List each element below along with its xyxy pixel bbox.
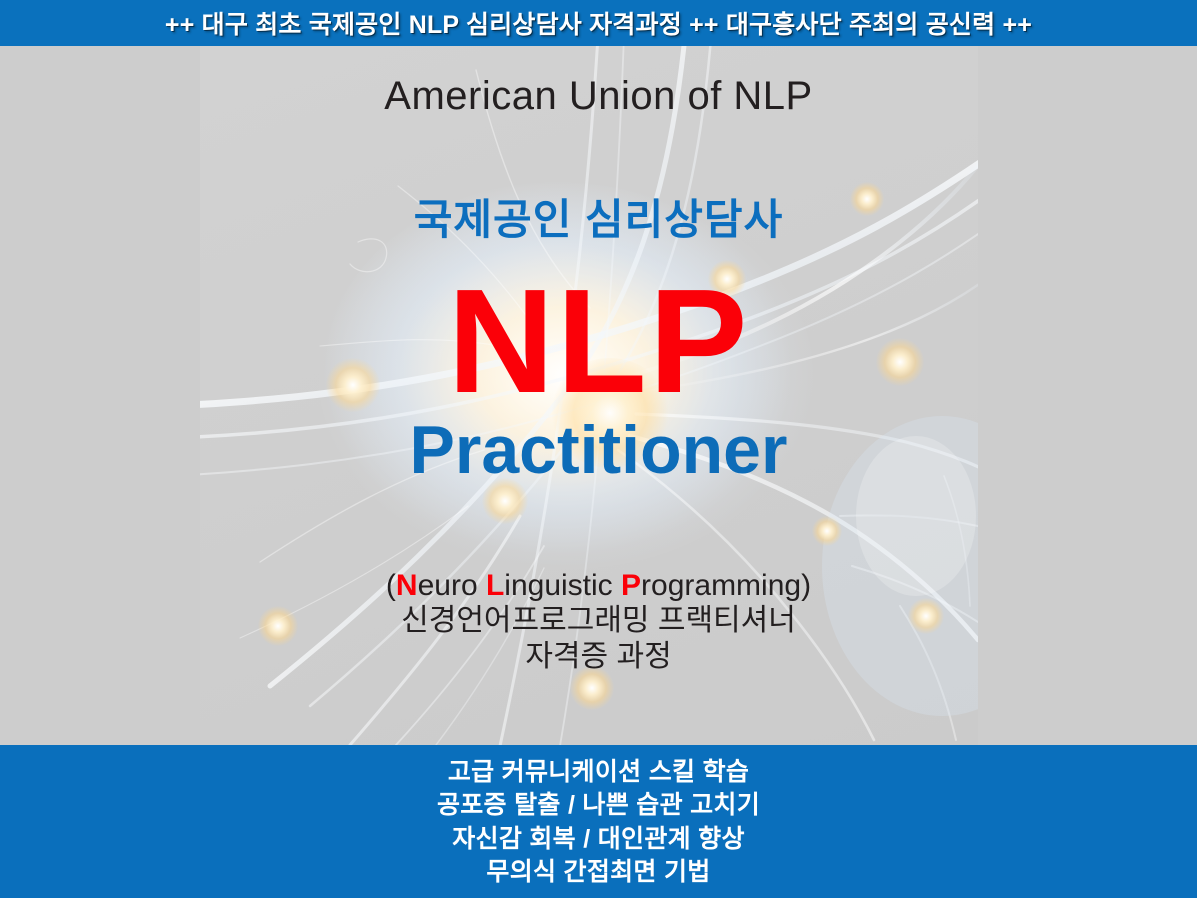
- benefits-panel: 고급 커뮤니케이션 스킬 학습 공포증 탈출 / 나쁜 습관 고치기 자신감 회…: [0, 745, 1197, 898]
- korean-subtitle-line-1: 신경언어프로그래밍 프랙티셔너: [0, 603, 1197, 639]
- benefit-line: 무의식 간접최면 기법: [486, 856, 710, 890]
- letter-l-highlight: L: [486, 569, 504, 602]
- korean-certification-title: 국제공인 심리상담사: [0, 186, 1197, 247]
- top-banner-text: ++ 대구 최초 국제공인 NLP 심리상담사 자격과정 ++ 대구흥사단 주최…: [165, 5, 1032, 41]
- letter-p-highlight: P: [621, 569, 641, 602]
- letter-n-highlight: N: [396, 569, 418, 602]
- benefit-line: 고급 커뮤니케이션 스킬 학습: [448, 756, 749, 790]
- organization-title: American Union of NLP: [0, 74, 1197, 119]
- paren-close: ): [801, 569, 811, 602]
- subtitle-block: (Neuro Linguistic Programming) 신경언어프로그래밍…: [0, 568, 1197, 675]
- practitioner-level-headline: Practitioner: [0, 416, 1197, 484]
- nlp-acronym-headline: NLP: [0, 268, 1197, 416]
- expansion-part-3: rogramming: [641, 569, 801, 602]
- paren-open: (: [386, 569, 396, 602]
- benefit-line: 자신감 회복 / 대인관계 향상: [452, 823, 745, 857]
- poster-stage: American Union of NLP 국제공인 심리상담사 NLP Pra…: [0, 46, 1197, 745]
- nlp-practitioner-poster: ++ 대구 최초 국제공인 NLP 심리상담사 자격과정 ++ 대구흥사단 주최…: [0, 0, 1197, 898]
- top-banner: ++ 대구 최초 국제공인 NLP 심리상담사 자격과정 ++ 대구흥사단 주최…: [0, 0, 1197, 46]
- expansion-part-2: inguistic: [504, 569, 621, 602]
- english-expansion-line: (Neuro Linguistic Programming): [0, 568, 1197, 603]
- benefit-line: 공포증 탈출 / 나쁜 습관 고치기: [437, 789, 760, 823]
- expansion-part-1: euro: [418, 569, 486, 602]
- korean-subtitle-line-2: 자격증 과정: [0, 639, 1197, 675]
